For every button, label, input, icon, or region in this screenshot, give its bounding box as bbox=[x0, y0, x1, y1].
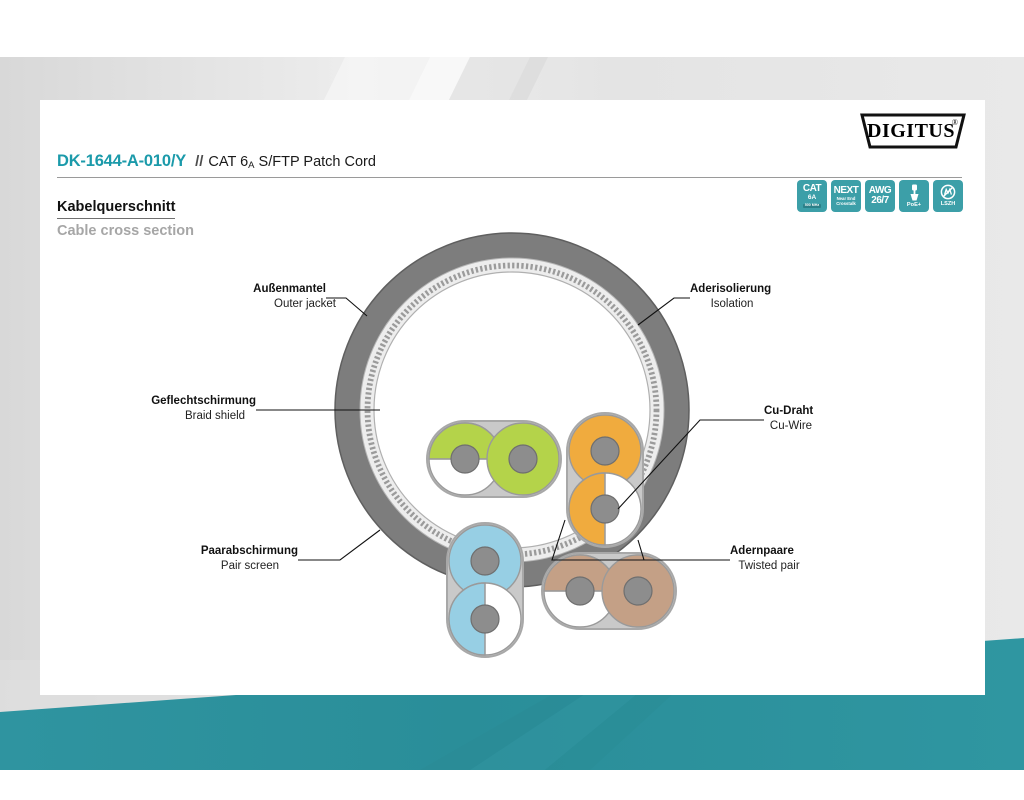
callout-isolation: Aderisolierung Isolation bbox=[690, 283, 771, 310]
pair-blue bbox=[447, 523, 523, 657]
callout-outer-jacket: Außenmantel Outer jacket bbox=[253, 283, 337, 310]
cu-wire-core bbox=[591, 495, 619, 523]
callout-label-en: Braid shield bbox=[185, 410, 245, 422]
conductor-blue-striped bbox=[449, 583, 521, 655]
pair-orange bbox=[567, 413, 643, 547]
callout-label-de: Außenmantel bbox=[253, 283, 326, 295]
cu-wire-core bbox=[451, 445, 479, 473]
callout-label-de: Aderisolierung bbox=[690, 283, 771, 295]
cable-cross-section-diagram: Außenmantel Outer jacket Geflechtschirmu… bbox=[40, 100, 985, 695]
callout-label-de: Geflechtschirmung bbox=[151, 395, 256, 407]
callout-pair-screen: Paarabschirmung Pair screen bbox=[201, 545, 298, 572]
callout-label-en: Isolation bbox=[711, 298, 754, 310]
callout-braid-shield: Geflechtschirmung Braid shield bbox=[151, 395, 256, 422]
cu-wire-core bbox=[566, 577, 594, 605]
cu-wire-core bbox=[624, 577, 652, 605]
cu-wire-core bbox=[591, 437, 619, 465]
callout-label-en: Outer jacket bbox=[274, 298, 337, 310]
conductor-green-solid bbox=[487, 423, 559, 495]
callout-label-en: Pair screen bbox=[221, 560, 279, 572]
cu-wire-core bbox=[509, 445, 537, 473]
callout-label-de: Adernpaare bbox=[730, 545, 794, 557]
callout-label-de: Cu-Draht bbox=[764, 405, 813, 417]
callout-label-de: Paarabschirmung bbox=[201, 545, 298, 557]
callout-twisted-pair: Adernpaare Twisted pair bbox=[730, 545, 800, 572]
conductor-orange-striped bbox=[569, 473, 641, 545]
cu-wire-core bbox=[471, 605, 499, 633]
cu-wire-core bbox=[471, 547, 499, 575]
callout-label-en: Twisted pair bbox=[738, 560, 800, 572]
callout-cu-wire: Cu-Draht Cu-Wire bbox=[764, 405, 813, 432]
conductor-brown-solid bbox=[602, 555, 674, 627]
callout-label-en: Cu-Wire bbox=[770, 420, 812, 432]
pair-brown bbox=[542, 553, 676, 629]
pair-green bbox=[427, 421, 561, 497]
